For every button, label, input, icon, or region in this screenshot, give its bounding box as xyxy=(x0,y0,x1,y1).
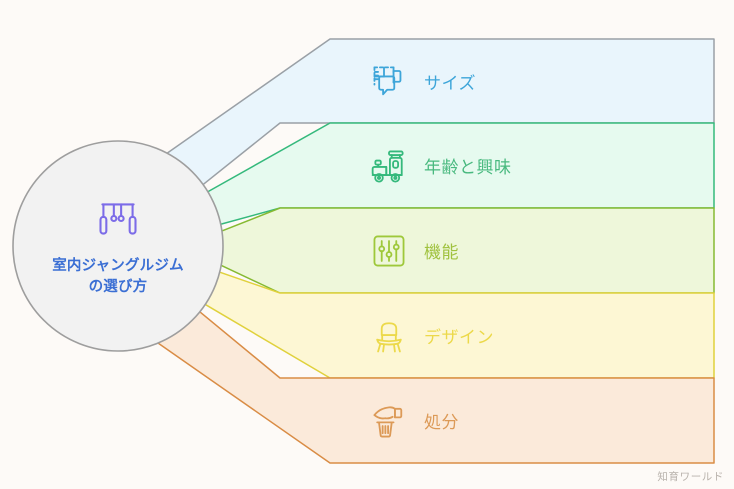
branch-band-2[interactable] xyxy=(218,208,714,293)
diagram-canvas: 室内ジャングルジム の選び方 サイズ xyxy=(0,0,734,489)
watermark: 知育ワールド xyxy=(657,469,724,484)
diagram-svg xyxy=(0,0,734,489)
hub-circle xyxy=(13,141,223,351)
branch-band-group xyxy=(157,39,714,463)
